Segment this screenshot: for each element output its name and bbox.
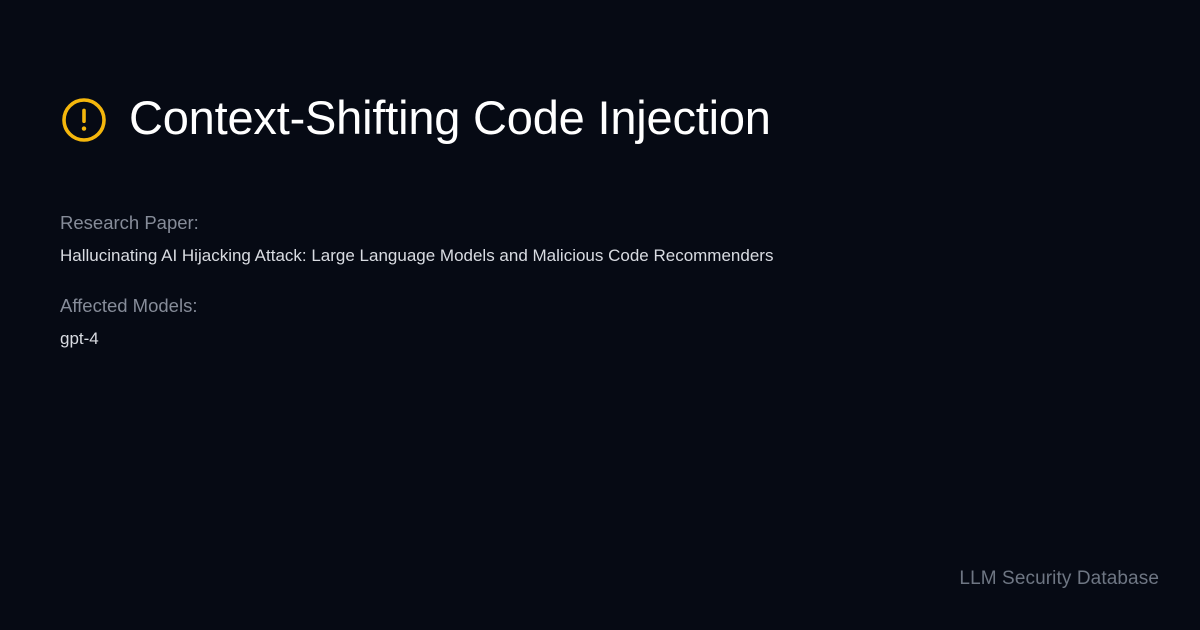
- page-title: Context-Shifting Code Injection: [129, 93, 771, 142]
- attack-summary-card: Context-Shifting Code Injection Research…: [0, 0, 1200, 630]
- research-paper-label: Research Paper:: [60, 211, 1140, 236]
- meta-section: Research Paper: Hallucinating AI Hijacki…: [60, 211, 1140, 351]
- meta-group-affected-models: Affected Models: gpt-4: [60, 294, 1140, 351]
- alert-circle-icon: [60, 96, 108, 144]
- affected-models-label: Affected Models:: [60, 294, 1140, 319]
- meta-group-research-paper: Research Paper: Hallucinating AI Hijacki…: [60, 211, 1140, 268]
- affected-models-value: gpt-4: [60, 327, 1140, 351]
- footer-brand: LLM Security Database: [959, 568, 1159, 590]
- header: Context-Shifting Code Injection: [60, 62, 1140, 174]
- research-paper-value: Hallucinating AI Hijacking Attack: Large…: [60, 244, 1140, 268]
